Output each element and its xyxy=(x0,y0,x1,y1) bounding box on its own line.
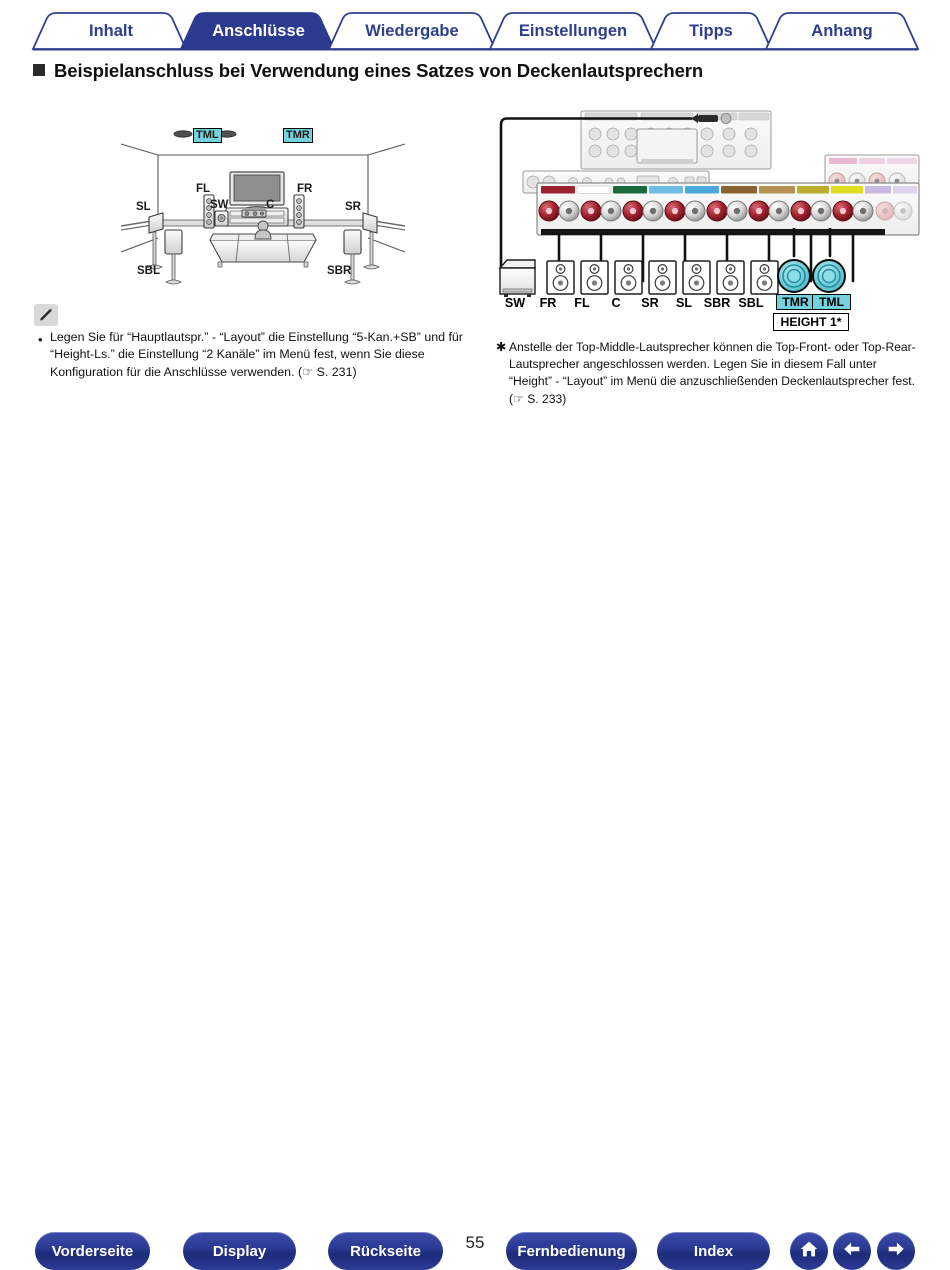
speaker-label-sr: SR xyxy=(635,296,665,310)
bottom-navigation-bar: Vorderseite Display Rückseite 55 Fernbed… xyxy=(0,612,950,665)
footnote-asterisk: ✱ xyxy=(496,339,506,356)
page-number: 55 xyxy=(455,1233,495,1253)
speaker-label-sl: SL xyxy=(669,296,699,310)
page-title: Beispielanschluss bei Verwendung eines S… xyxy=(33,60,703,82)
room-label-sl: SL xyxy=(136,201,151,213)
room-label-sr: SR xyxy=(345,201,361,213)
ceiling-speaker-tml-icon xyxy=(174,131,192,137)
speaker-label-tml: TML xyxy=(812,294,851,310)
note-pencil-icon xyxy=(34,304,58,326)
room-layout-diagram xyxy=(118,122,408,294)
speaker-label-tmr: TMR xyxy=(776,294,815,310)
nav-button-display[interactable]: Display xyxy=(183,1232,296,1270)
back-arrow-icon xyxy=(841,1238,863,1265)
subwoofer-cable-plug xyxy=(691,114,731,124)
room-label-sbl: SBL xyxy=(137,265,160,277)
note-bullet: • xyxy=(38,331,43,348)
speaker-icon-fl xyxy=(581,261,608,294)
speaker-icon-sr xyxy=(649,261,676,294)
surround-left-speaker-icon xyxy=(149,213,163,233)
page-title-text: Beispielanschluss bei Verwendung eines S… xyxy=(54,60,703,81)
speaker-icon-sbr xyxy=(717,261,744,294)
home-button[interactable] xyxy=(790,1232,828,1270)
room-label-fr: FR xyxy=(297,183,312,195)
nav-button-rueckseite[interactable]: Rückseite xyxy=(328,1232,443,1270)
forward-button[interactable] xyxy=(877,1232,915,1270)
home-icon xyxy=(798,1238,820,1265)
footnote-right-text: Anstelle der Top-Middle-Lautsprecher kön… xyxy=(496,339,920,408)
speaker-icon-tml xyxy=(813,260,845,292)
speaker-label-sbl: SBL xyxy=(734,296,768,310)
speaker-label-fr: FR xyxy=(533,296,563,310)
tab-inhalt[interactable]: Inhalt xyxy=(56,21,166,41)
tab-anhang[interactable]: Anhang xyxy=(787,21,897,41)
nav-button-vorderseite[interactable]: Vorderseite xyxy=(35,1232,150,1270)
nav-button-fernbedienung[interactable]: Fernbedienung xyxy=(506,1232,637,1270)
speaker-label-sw: SW xyxy=(498,296,532,310)
bullet-square-icon xyxy=(33,64,45,76)
surround-back-right-speaker-icon xyxy=(344,230,361,254)
tab-tipps[interactable]: Tipps xyxy=(672,21,750,41)
speaker-label-fl: FL xyxy=(567,296,597,310)
tab-wiedergabe[interactable]: Wiedergabe xyxy=(350,21,474,41)
tab-anschluesse[interactable]: Anschlüsse xyxy=(202,21,315,41)
room-label-tmr: TMR xyxy=(283,128,313,143)
room-label-c: C xyxy=(266,199,274,211)
surround-right-speaker-icon xyxy=(363,213,377,233)
surround-back-left-speaker-icon xyxy=(165,230,182,254)
room-label-fl: FL xyxy=(196,183,210,195)
speaker-icon-tmr xyxy=(778,260,810,292)
speaker-label-c: C xyxy=(601,296,631,310)
note-text-block: • Legen Sie für “Hauptlautspr.” - “Layou… xyxy=(38,329,480,381)
speaker-icon-sl xyxy=(683,261,710,294)
speaker-icon-sbl xyxy=(751,261,778,294)
speaker-icon-sw xyxy=(500,260,535,297)
note-text: Legen Sie für “Hauptlautspr.” - “Layout”… xyxy=(38,329,480,381)
speaker-icon-fr xyxy=(547,261,574,294)
speaker-icon-c xyxy=(615,261,642,294)
room-label-sw: SW xyxy=(210,199,229,211)
room-label-tml: TML xyxy=(193,128,222,143)
tab-einstellungen[interactable]: Einstellungen xyxy=(511,21,635,41)
height-group-label: HEIGHT 1* xyxy=(773,313,849,331)
forward-arrow-icon xyxy=(885,1238,907,1265)
tab-bar: Inhalt Anschlüsse Wiedergabe Einstellung… xyxy=(0,0,950,52)
nav-button-index[interactable]: Index xyxy=(657,1232,770,1270)
room-label-sbr: SBR xyxy=(327,265,351,277)
speaker-label-sbr: SBR xyxy=(700,296,734,310)
footnote-right: ✱ Anstelle der Top-Middle-Lautsprecher k… xyxy=(496,339,920,408)
back-button[interactable] xyxy=(833,1232,871,1270)
